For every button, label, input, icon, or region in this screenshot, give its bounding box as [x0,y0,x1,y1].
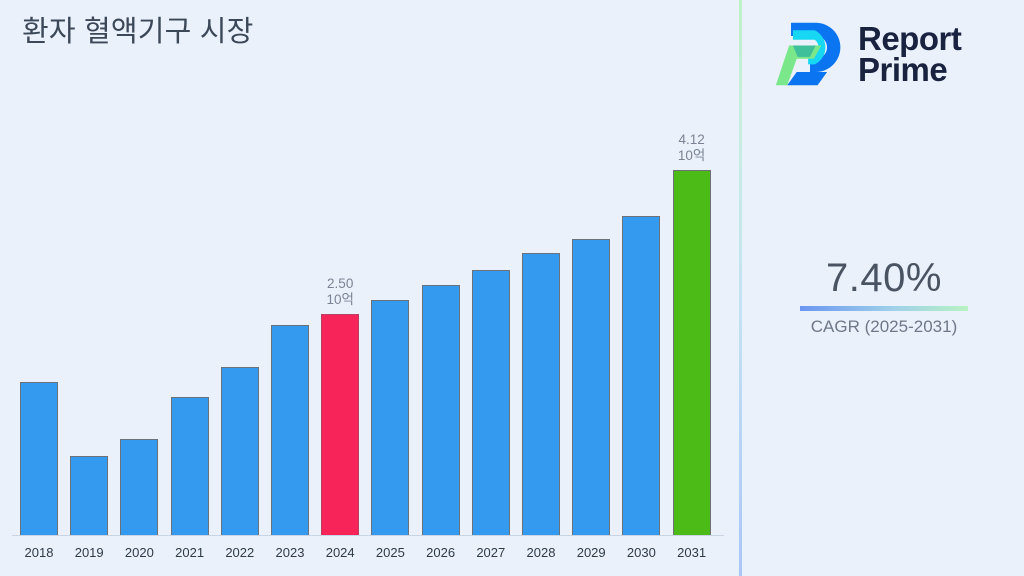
x-axis-line [12,535,724,536]
cagr-block: 7.40% CAGR (2025-2031) [756,252,1012,339]
bar-2024 [321,314,359,535]
x-tick-label-2024: 2024 [315,545,365,560]
x-tick-label-2021: 2021 [165,545,215,560]
bar-2029 [572,239,610,535]
bar-chart-plot: 20182019202020212022202320242.5010억20252… [0,0,740,576]
chart-screenshot: 환자 혈액기구 시장 20182019202020212022202320242… [0,0,1024,576]
x-tick-label-2028: 2028 [516,545,566,560]
bar-value-label-2031: 4.1210억 [652,132,732,164]
bar-2025 [371,300,409,535]
bar-2027 [472,270,510,535]
bar-2018 [20,382,58,535]
brand-panel: Report Prime 7.40% CAGR (2025-2031) [742,0,1024,576]
x-tick-label-2023: 2023 [265,545,315,560]
cagr-caption: CAGR (2025-2031) [756,315,1012,339]
bar-2023 [271,325,309,535]
x-tick-label-2018: 2018 [14,545,64,560]
chart-panel: 환자 혈액기구 시장 20182019202020212022202320242… [0,0,740,576]
bar-2022 [221,367,259,535]
bar-value-2031: 4.12 [652,132,732,148]
brand-name-line2: Prime [858,51,947,88]
bar-value-label-2024: 2.5010억 [300,276,380,308]
x-tick-label-2020: 2020 [114,545,164,560]
x-tick-label-2027: 2027 [466,545,516,560]
cagr-divider-rule [800,306,968,311]
cagr-value: 7.40% [756,252,1012,304]
bar-2021 [171,397,209,535]
report-prime-logo: Report Prime [772,12,1012,96]
bar-2020 [120,439,158,535]
bar-2019 [70,456,108,535]
x-tick-label-2026: 2026 [416,545,466,560]
x-tick-label-2031: 2031 [667,545,717,560]
report-prime-logo-icon [772,17,848,91]
x-tick-label-2030: 2030 [616,545,666,560]
x-tick-label-2019: 2019 [64,545,114,560]
bar-value-2024: 2.50 [300,276,380,292]
bar-unit-2024: 10억 [300,292,380,308]
bar-2030 [622,216,660,535]
bar-2026 [422,285,460,535]
bar-2028 [522,253,560,535]
bar-2031 [673,170,711,535]
x-tick-label-2029: 2029 [566,545,616,560]
brand-name: Report Prime [858,23,961,86]
bar-unit-2031: 10억 [652,148,732,164]
x-tick-label-2025: 2025 [365,545,415,560]
x-tick-label-2022: 2022 [215,545,265,560]
